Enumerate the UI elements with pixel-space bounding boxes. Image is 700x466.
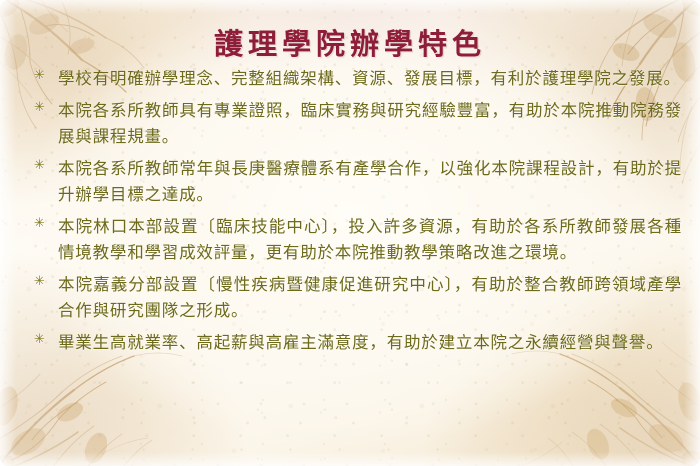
star-bullet-icon: ✳ xyxy=(34,214,58,230)
presentation-slide: 護理學院辦學特色 ✳ 學校有明確辦學理念、完整組織架構、資源、發展目標，有利於護… xyxy=(0,0,700,466)
slide-title: 護理學院辦學特色 xyxy=(0,21,700,63)
star-bullet-icon: ✳ xyxy=(34,66,58,82)
list-item-text: 本院嘉義分部設置〔慢性疾病暨健康促進研究中心〕，有助於整合教師跨領域產學合作與研… xyxy=(58,272,682,325)
list-item-text: 本院各系所教師具有專業證照，臨床實務與研究經驗豐富，有助於本院推動院務發展與課程… xyxy=(58,98,682,151)
list-item: ✳ 本院嘉義分部設置〔慢性疾病暨健康促進研究中心〕，有助於整合教師跨領域產學合作… xyxy=(34,272,682,325)
bullet-list: ✳ 學校有明確辦學理念、完整組織架構、資源、發展目標，有利於護理學院之發展。 ✳… xyxy=(34,66,682,361)
slide-content: 護理學院辦學特色 ✳ 學校有明確辦學理念、完整組織架構、資源、發展目標，有利於護… xyxy=(0,0,700,466)
list-item-text: 畢業生高就業率、高起薪與高雇主滿意度，有助於建立本院之永續經營與聲譽。 xyxy=(58,330,682,357)
list-item: ✳ 本院各系所教師常年與長庚醫療體系有產學合作，以強化本院課程設計，有助於提升辦… xyxy=(34,156,682,209)
list-item-text: 學校有明確辦學理念、完整組織架構、資源、發展目標，有利於護理學院之發展。 xyxy=(58,66,682,93)
list-item: ✳ 學校有明確辦學理念、完整組織架構、資源、發展目標，有利於護理學院之發展。 xyxy=(34,66,682,93)
list-item: ✳ 本院林口本部設置〔臨床技能中心〕，投入許多資源，有助於各系所教師發展各種情境… xyxy=(34,214,682,267)
star-bullet-icon: ✳ xyxy=(34,330,58,346)
list-item: ✳ 畢業生高就業率、高起薪與高雇主滿意度，有助於建立本院之永續經營與聲譽。 xyxy=(34,330,682,357)
list-item-text: 本院林口本部設置〔臨床技能中心〕，投入許多資源，有助於各系所教師發展各種情境教學… xyxy=(58,214,682,267)
star-bullet-icon: ✳ xyxy=(34,156,58,172)
list-item-text: 本院各系所教師常年與長庚醫療體系有產學合作，以強化本院課程設計，有助於提升辦學目… xyxy=(58,156,682,209)
list-item: ✳ 本院各系所教師具有專業證照，臨床實務與研究經驗豐富，有助於本院推動院務發展與… xyxy=(34,98,682,151)
star-bullet-icon: ✳ xyxy=(34,98,58,114)
star-bullet-icon: ✳ xyxy=(34,272,58,288)
